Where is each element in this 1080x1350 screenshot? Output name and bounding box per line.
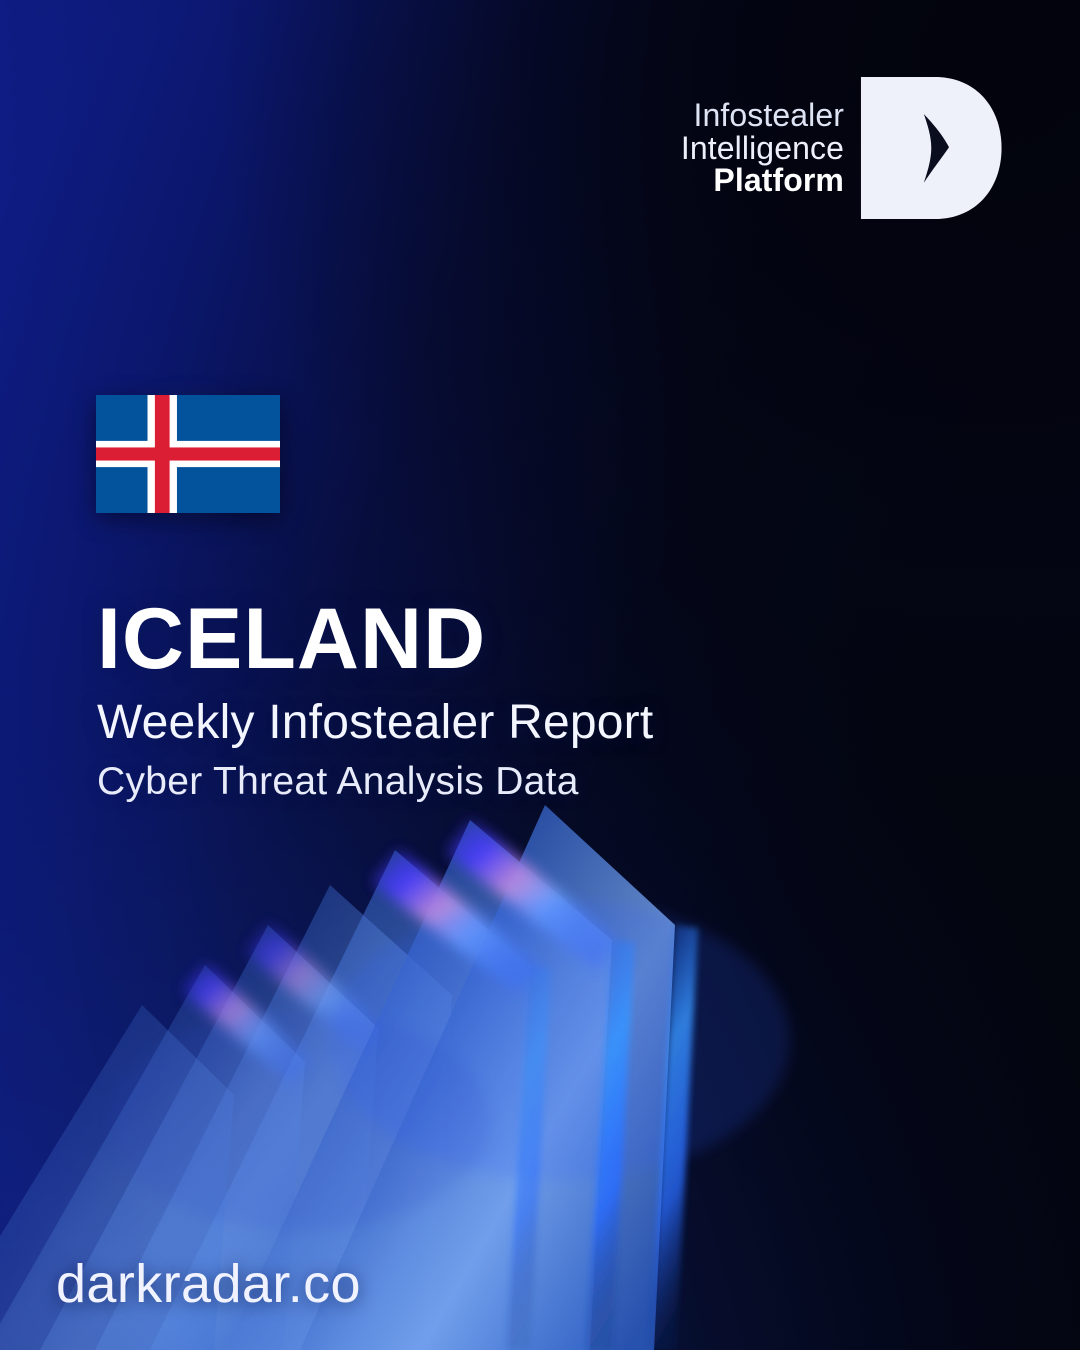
country-flag (96, 395, 280, 513)
darkradar-d-mark-icon (858, 74, 1006, 222)
brand-logo-line-1: Infostealer (693, 99, 844, 132)
brand-logo-text: Infostealer Intelligence Platform (681, 99, 858, 197)
report-subtitle: Cyber Threat Analysis Data (97, 762, 997, 803)
poster-canvas: Infostealer Intelligence Platform ICELAN… (0, 0, 1080, 1350)
brand-logo-line-3: Platform (713, 164, 844, 197)
brand-logo[interactable]: Infostealer Intelligence Platform (681, 74, 1006, 222)
footer: darkradar.co (56, 1253, 361, 1315)
website-url[interactable]: darkradar.co (56, 1253, 361, 1315)
country-name: ICELAND (97, 596, 997, 682)
headline-block: ICELAND Weekly Infostealer Report Cyber … (97, 596, 997, 803)
brand-logo-line-2: Intelligence (681, 132, 844, 165)
iceland-flag-icon (96, 395, 280, 513)
report-title: Weekly Infostealer Report (97, 698, 997, 748)
